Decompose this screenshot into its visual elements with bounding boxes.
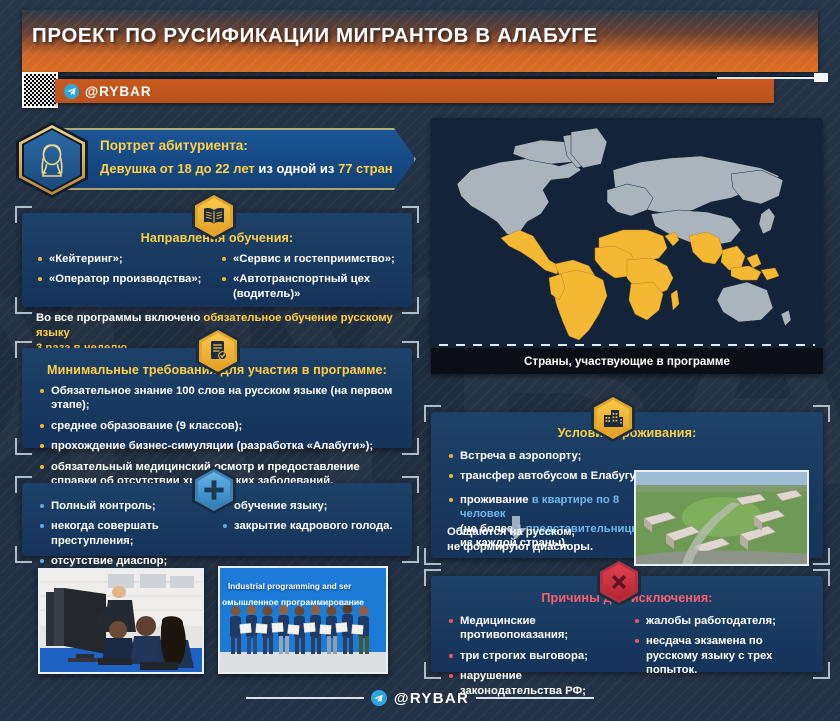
list-item: Встреча в аэропорту;	[447, 449, 657, 463]
telegram-icon	[371, 690, 387, 706]
list-item: отсутствие диаспор;	[38, 554, 215, 568]
list-item: «Автотранспортный цех (водитель)»	[220, 272, 398, 301]
exclusion-left-list: Медицинские противопоказания; три строги…	[447, 614, 627, 698]
aerial-housing-photo	[634, 470, 809, 566]
list-item: Полный контроль;	[38, 499, 215, 513]
qr-code-icon	[22, 72, 58, 108]
list-item: жалобы работодателя;	[633, 614, 813, 628]
benefits-left-list: Полный контроль; некогда совершать прест…	[38, 499, 215, 569]
female-student-icon	[16, 122, 88, 198]
list-item: три строгих выговора;	[447, 649, 627, 663]
telegram-icon	[64, 84, 79, 99]
exclusion-right-list: жалобы работодателя; несдача экзамена по…	[633, 614, 813, 678]
map-caption: Страны, участвующие в программе	[431, 348, 823, 374]
building-icon	[591, 394, 635, 442]
list-item: прохождение бизнес-симуляции (разработка…	[38, 439, 398, 453]
header-accent-cap	[814, 73, 828, 82]
list-item: закрытие кадрового голода.	[221, 519, 398, 533]
benefits-right-list: обучение языку; закрытие кадрового голод…	[221, 499, 398, 534]
footer: @RYBAR	[0, 687, 840, 709]
map-svg	[431, 118, 823, 350]
portrait-title: Портрет абитуриента:	[100, 138, 248, 153]
red-cross-icon	[597, 558, 641, 606]
portrait-banner: Портрет абитуриента: Девушка от 18 до 22…	[56, 128, 416, 190]
living-conclusion-line1: Общаются на русском,	[447, 526, 575, 538]
header-channel-name: @RYBAR	[85, 84, 152, 99]
photo2-caption-ru: омышленное программирование	[222, 597, 384, 607]
list-item: некогда совершать преступления;	[38, 519, 215, 548]
world-map	[431, 118, 823, 350]
document-check-icon	[196, 327, 240, 375]
living-conclusion: Общаются на русском, не формируют диаспо…	[447, 525, 593, 556]
list-item: Медицинские противопоказания;	[447, 614, 627, 643]
list-item: среднее образование (9 классов);	[38, 419, 398, 433]
plus-cross-icon	[192, 466, 236, 514]
portrait-countries: 77 стран	[338, 161, 393, 176]
living-item3-a: проживание	[460, 494, 532, 506]
list-item: «Сервис и гостеприимство»;	[220, 252, 398, 266]
list-item: трансфер автобусом в Елабугу;	[447, 469, 657, 483]
map-bottom-dashline	[439, 344, 815, 346]
open-book-icon	[192, 192, 236, 240]
portrait-subtitle: Девушка от 18 до 22 лет из одной из 77 с…	[100, 161, 393, 176]
living-conclusion-line2: не формируют диаспоры.	[447, 541, 593, 553]
directions-left-list: «Кейтеринг»; «Оператор производства»;	[36, 252, 214, 287]
list-item: «Кейтеринг»;	[36, 252, 214, 266]
list-item: «Оператор производства»;	[36, 272, 214, 286]
directions-note-plain: Во все программы включено	[36, 312, 203, 324]
photo2-caption-en: Industrial programming and ser	[228, 582, 380, 592]
directions-right-list: «Сервис и гостеприимство»; «Автотранспор…	[220, 252, 398, 301]
footer-line-left	[246, 697, 364, 699]
portrait-mid: из одной из	[255, 161, 338, 176]
list-item: обучение языку;	[221, 499, 398, 513]
list-item: Обязательное знание 100 слов на русском …	[38, 384, 398, 413]
portrait-age: Девушка от 18 до 22 лет	[100, 161, 255, 176]
page-title: ПРОЕКТ ПО РУСИФИКАЦИИ МИГРАНТОВ В АЛАБУГ…	[32, 24, 598, 48]
graduates-group-photo: Industrial programming and ser омышленно…	[218, 566, 388, 674]
students-at-computers-photo	[38, 568, 204, 674]
footer-line-right	[476, 697, 594, 699]
telegram-channel-strip[interactable]: @RYBAR	[55, 79, 774, 103]
list-item: несдача экзамена по русскому языку с тре…	[633, 634, 813, 677]
footer-channel-name: @RYBAR	[394, 690, 469, 707]
